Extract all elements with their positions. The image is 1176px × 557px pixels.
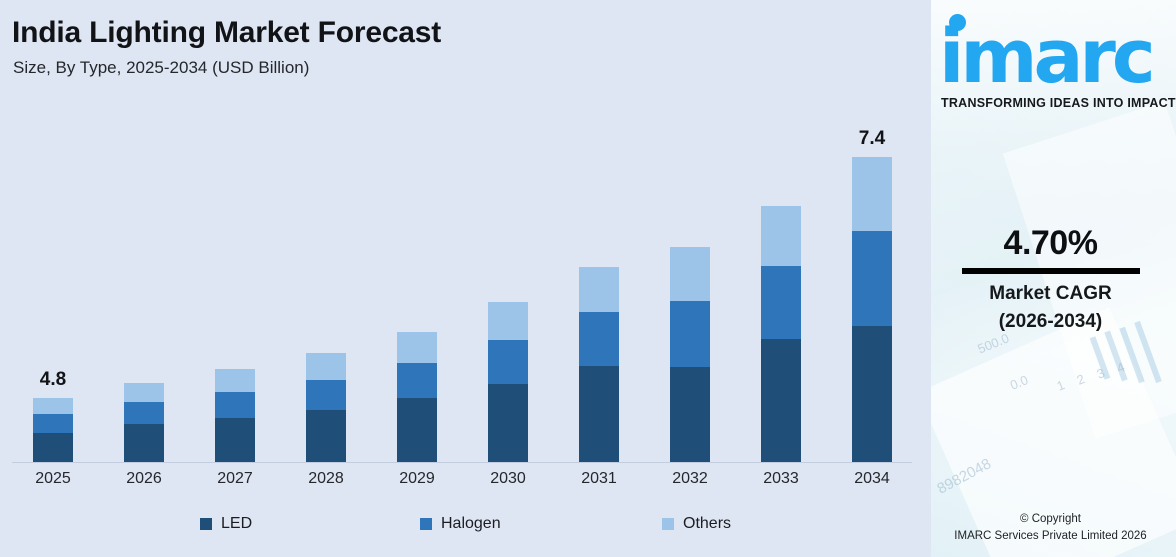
bar-segment-led-2034 — [852, 326, 892, 462]
bar-segment-halogen-2029 — [397, 363, 437, 398]
bar-segment-others-2025 — [33, 398, 73, 414]
bar-segment-others-2028 — [306, 353, 346, 380]
bar-segment-led-2028 — [306, 410, 346, 462]
legend-item-others[interactable]: Others — [662, 515, 731, 533]
x-axis-label-2034: 2034 — [832, 470, 912, 488]
chart-panel: India Lighting Market Forecast Size, By … — [0, 0, 925, 557]
x-axis-label-2032: 2032 — [650, 470, 730, 488]
x-axis-label-2033: 2033 — [741, 470, 821, 488]
bar-segment-halogen-2025 — [33, 414, 73, 433]
bar-segment-others-2033 — [761, 206, 801, 266]
bar-segment-others-2032 — [670, 247, 710, 301]
bar-segment-others-2034 — [852, 157, 892, 231]
bar-segment-led-2033 — [761, 339, 801, 462]
bar-segment-halogen-2030 — [488, 340, 528, 384]
x-axis-label-2025: 2025 — [13, 470, 93, 488]
bar-segment-halogen-2033 — [761, 266, 801, 339]
bar-value-label-2025: 4.8 — [13, 369, 93, 391]
chart-screenshot: India Lighting Market Forecast Size, By … — [0, 0, 1176, 557]
bar-2028[interactable] — [306, 353, 346, 462]
bar-segment-others-2031 — [579, 267, 619, 312]
legend-item-led[interactable]: LED — [200, 515, 252, 533]
bar-2030[interactable] — [488, 302, 528, 462]
cagr-value: 4.70% — [925, 224, 1176, 263]
legend-swatch-others — [662, 518, 674, 530]
bar-segment-led-2025 — [33, 433, 73, 462]
legend-swatch-halogen — [420, 518, 432, 530]
bar-2031[interactable] — [579, 267, 619, 462]
bar-2034[interactable] — [852, 157, 892, 462]
x-axis-label-2030: 2030 — [468, 470, 548, 488]
copyright-line-2: IMARC Services Private Limited 2026 — [925, 530, 1176, 542]
bar-segment-led-2032 — [670, 367, 710, 462]
bar-2029[interactable] — [397, 332, 437, 462]
bar-value-label-2034: 7.4 — [832, 128, 912, 150]
x-axis-label-2026: 2026 — [104, 470, 184, 488]
x-axis-label-2031: 2031 — [559, 470, 639, 488]
x-axis-label-2028: 2028 — [286, 470, 366, 488]
legend-label-halogen: Halogen — [441, 515, 501, 533]
bar-segment-led-2027 — [215, 418, 255, 462]
cagr-label: Market CAGR — [925, 283, 1176, 305]
cagr-period: (2026-2034) — [925, 311, 1176, 333]
panel-left-edge — [925, 0, 931, 557]
cagr-divider — [962, 268, 1140, 274]
bar-segment-led-2026 — [124, 424, 164, 462]
logo-wordmark: imarc — [939, 22, 1152, 92]
bar-segment-halogen-2034 — [852, 231, 892, 326]
x-axis-label-2029: 2029 — [377, 470, 457, 488]
bar-segment-others-2027 — [215, 369, 255, 392]
legend-label-others: Others — [683, 515, 731, 533]
bar-segment-halogen-2028 — [306, 380, 346, 410]
plot-area: 4.82025202620272028202920302031203220337… — [0, 0, 925, 470]
logo-tagline: TRANSFORMING IDEAS INTO IMPACT — [941, 96, 1176, 110]
legend-label-led: LED — [221, 515, 252, 533]
bar-2032[interactable] — [670, 247, 710, 462]
bar-segment-led-2029 — [397, 398, 437, 462]
bar-segment-others-2026 — [124, 383, 164, 402]
brand-panel: 500.0 0.0 1 2 3 4 8982048 imarc TRANSFOR… — [925, 0, 1176, 557]
bar-segment-halogen-2027 — [215, 392, 255, 418]
bar-2033[interactable] — [761, 206, 801, 462]
bar-segment-led-2031 — [579, 366, 619, 462]
bar-2027[interactable] — [215, 369, 255, 462]
bar-segment-halogen-2031 — [579, 312, 619, 366]
bar-segment-halogen-2032 — [670, 301, 710, 367]
bar-segment-halogen-2026 — [124, 402, 164, 424]
bar-2026[interactable] — [124, 383, 164, 462]
copyright-line-1: © Copyright — [925, 513, 1176, 525]
chart-legend: LEDHalogenOthers — [0, 515, 925, 547]
bar-segment-others-2029 — [397, 332, 437, 363]
bar-segment-led-2030 — [488, 384, 528, 462]
x-axis-label-2027: 2027 — [195, 470, 275, 488]
legend-swatch-led — [200, 518, 212, 530]
bar-segment-others-2030 — [488, 302, 528, 340]
bar-2025[interactable] — [33, 398, 73, 462]
x-axis-line — [12, 462, 912, 463]
legend-item-halogen[interactable]: Halogen — [420, 515, 501, 533]
imarc-logo: imarc TRANSFORMING IDEAS INTO IMPACT — [925, 8, 1176, 108]
